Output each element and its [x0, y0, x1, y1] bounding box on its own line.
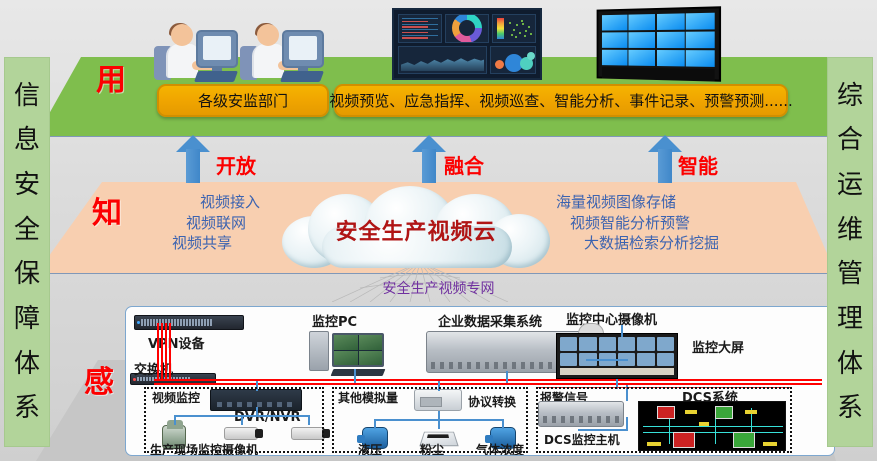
- control-center-camera-label: 监控中心摄像机: [566, 309, 657, 328]
- wall-row: [560, 337, 674, 351]
- area-chart-shape: [401, 55, 484, 71]
- cloud-left-capabilities: 视频接入 视频联网 视频共享: [130, 192, 260, 254]
- arrow-label-intelligent: 智能: [678, 150, 718, 179]
- cloud-left-item-2: 视频共享: [130, 233, 260, 254]
- donut-chart-shape: [452, 14, 482, 43]
- head-shape: [257, 24, 279, 46]
- operator-figure: [154, 10, 240, 84]
- arrow-shaft-shape: [658, 149, 672, 183]
- link-red-vertical: [169, 323, 171, 379]
- arrow-shaft-shape: [186, 149, 200, 183]
- monitoring-pc-label: 监控PC: [312, 311, 357, 330]
- link-red-vertical: [157, 323, 159, 379]
- arrow-label-open: 开放: [216, 150, 256, 179]
- right-panel-char-0: 综: [837, 83, 863, 109]
- left-panel-char-6: 体: [14, 351, 40, 377]
- table-rows-shape: [402, 18, 438, 39]
- operators-at-computers-illustration: [152, 6, 328, 84]
- link-red-vertical: [161, 323, 163, 379]
- left-panel-char-7: 系: [14, 395, 40, 421]
- left-panel-char-5: 障: [14, 306, 40, 332]
- dashboard-donut-card: [445, 14, 489, 43]
- enterprise-data-collection-label: 企业数据采集系统: [438, 311, 542, 330]
- layer-letter-platform: 知: [92, 199, 122, 229]
- layer-letter-application: 用: [96, 66, 126, 96]
- pc-keyboard-icon: [331, 369, 386, 376]
- left-panel-char-1: 息: [14, 127, 40, 153]
- dashboard-heatbar-card: [492, 14, 536, 43]
- head-shape: [171, 24, 193, 46]
- console-desk-shape: [560, 368, 674, 375]
- video-wall-grid: [602, 13, 715, 67]
- right-vertical-panel-operations-management: 综 合 运 维 管 理 体 系: [827, 57, 873, 447]
- cloud-right-capabilities: 海量视频图像存储 视频智能分析预警 大数据检索分析挖掘: [556, 192, 756, 254]
- perception-network-panel: VPN设备 交换机 监控PC 企业数据采集系统 监控中心摄像机: [125, 306, 835, 456]
- link-blue-vertical: [354, 369, 356, 383]
- dashboard-table-card: [398, 14, 442, 43]
- dashboard-area-card: [398, 46, 487, 75]
- monitor-icon: [282, 30, 324, 68]
- architecture-diagram: 信 息 安 全 保 障 体 系 综 合 运 维 管 理 体 系 用 知 感: [0, 0, 877, 461]
- arrow-label-fusion: 融合: [444, 150, 484, 179]
- application-box-authorities[interactable]: 各级安监部门: [157, 84, 329, 117]
- analytics-dashboard-illustration: [392, 8, 542, 80]
- bubble-shape: [527, 52, 535, 60]
- keyboard-icon: [194, 71, 238, 82]
- private-network-label: 安全生产视频专网: [0, 278, 877, 298]
- backbone-bus-red: [154, 383, 822, 385]
- right-panel-char-6: 体: [837, 351, 863, 377]
- arrow-up-open: [176, 135, 210, 183]
- monitor-icon: [196, 30, 238, 68]
- cloud-shape-video-cloud: 安全生产视频云: [282, 186, 550, 270]
- cloud-right-item-2: 大数据检索分析挖掘: [556, 233, 756, 254]
- left-vertical-panel-information-security: 信 息 安 全 保 障 体 系: [4, 57, 50, 447]
- keyboard-icon: [280, 71, 324, 82]
- right-panel-char-4: 管: [837, 261, 863, 287]
- backbone-bus-red: [154, 379, 822, 381]
- arrow-shaft-shape: [422, 149, 436, 183]
- large-screen-wall-icon: [556, 333, 678, 379]
- right-panel-char-1: 合: [837, 127, 863, 153]
- pc-screen-icon: [332, 333, 384, 367]
- dashboard-bubble-card: [490, 46, 536, 75]
- application-box-functions[interactable]: 视频预览、应急指挥、视频巡查、智能分析、事件记录、预警预测......: [334, 84, 788, 117]
- scatter-points-shape: [507, 18, 532, 39]
- right-panel-char-3: 维: [837, 217, 863, 243]
- operator-figure: [240, 10, 326, 84]
- video-surveillance-group: [144, 387, 324, 453]
- arrow-up-intelligent: [648, 135, 682, 183]
- video-wall-illustration: [597, 6, 721, 81]
- arrow-up-fusion: [412, 135, 446, 183]
- dashboard-row-bottom: [398, 46, 536, 75]
- link-blue-vertical: [621, 325, 623, 337]
- dashboard-row-top: [398, 14, 536, 43]
- large-screen-label: 监控大屏: [692, 337, 744, 356]
- vpn-device-icon: [134, 315, 244, 330]
- cloud-left-item-0: 视频接入: [130, 192, 260, 213]
- link-red-vertical: [165, 323, 167, 379]
- link-blue-horizontal: [586, 359, 628, 361]
- bubble-shape: [495, 60, 504, 69]
- alarm-signal-group: [536, 387, 792, 453]
- layer-letter-perception: 感: [84, 368, 114, 398]
- left-panel-char-0: 信: [14, 83, 40, 109]
- cloud-left-item-1: 视频联网: [130, 213, 260, 234]
- cloud-right-item-0: 海量视频图像存储: [556, 192, 756, 213]
- right-panel-char-7: 系: [837, 395, 863, 421]
- left-panel-char-2: 安: [14, 172, 40, 198]
- cloud-right-item-1: 视频智能分析预警: [556, 213, 756, 234]
- pc-tower-icon: [309, 331, 329, 371]
- right-panel-char-5: 理: [837, 306, 863, 332]
- right-panel-char-2: 运: [837, 172, 863, 198]
- link-blue-vertical: [506, 371, 508, 383]
- heat-colorbar-shape: [497, 18, 504, 39]
- left-panel-char-4: 保: [14, 261, 40, 287]
- cloud-title: 安全生产视频云: [282, 214, 550, 246]
- left-panel-char-3: 全: [14, 217, 40, 243]
- switch-label: 交换机: [134, 359, 173, 378]
- analog-signal-group: [332, 387, 528, 453]
